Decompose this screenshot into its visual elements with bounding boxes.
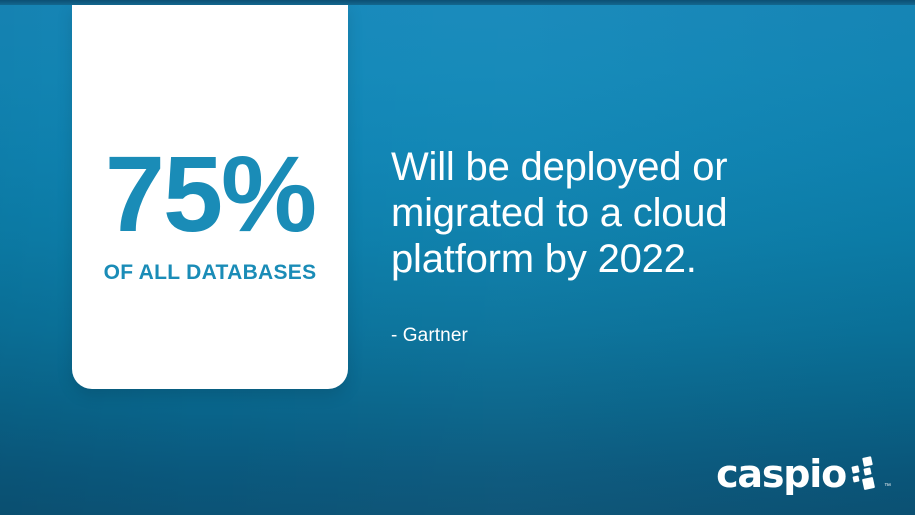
quote-block: Will be deployed or migrated to a cloud … <box>391 144 861 348</box>
stat-number: 75% <box>105 140 315 248</box>
caspio-dots-mark-icon <box>851 457 883 491</box>
caspio-wordmark: caspio <box>716 455 846 493</box>
quote-attribution: - Gartner <box>391 325 861 348</box>
caspio-logo: caspio ™ <box>716 455 891 493</box>
quote-text: Will be deployed or migrated to a cloud … <box>391 144 861 282</box>
slide-canvas: 75% OF ALL DATABASES Will be deployed or… <box>0 0 915 515</box>
top-edge-band <box>0 0 915 5</box>
stat-card: 75% OF ALL DATABASES <box>72 4 348 389</box>
trademark-symbol: ™ <box>884 483 891 490</box>
stat-caption: OF ALL DATABASES <box>104 262 317 283</box>
